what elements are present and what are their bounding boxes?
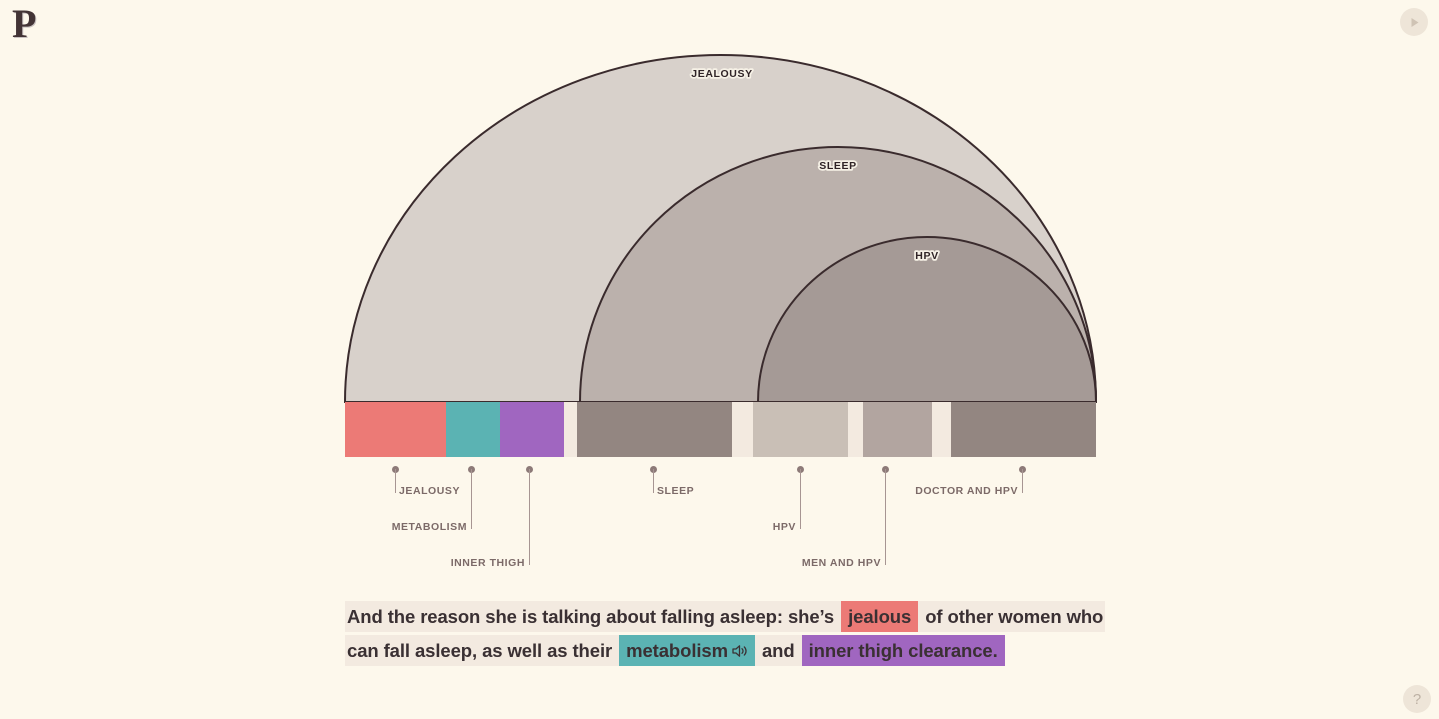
leader-label: JEALOUSY xyxy=(399,485,460,497)
leader-label: MEN AND HPV xyxy=(802,557,881,569)
arc-label-jealousy: JEALOUSY xyxy=(691,68,752,80)
leader-label: SLEEP xyxy=(657,485,694,497)
bar-segment-men-and-hpv[interactable] xyxy=(863,402,932,457)
visualization-canvas: P ? JEALOUSYSLEEPHPV JEALOUSYMETABOLISMI… xyxy=(0,0,1439,719)
transcript-caption: And the reason she is talking about fall… xyxy=(345,600,1105,669)
question-mark-icon: ? xyxy=(1413,691,1421,708)
topic-segment-bar xyxy=(345,402,1096,457)
arc-label-hpv: HPV xyxy=(915,250,938,262)
bar-segment-sleep[interactable] xyxy=(577,402,732,457)
bar-segment-hpv[interactable] xyxy=(753,402,848,457)
leader-label: DOCTOR AND HPV xyxy=(915,485,1018,497)
help-button[interactable]: ? xyxy=(1403,685,1431,713)
bar-segment-doctor-and-hpv[interactable] xyxy=(951,402,1096,457)
leader-stem xyxy=(653,469,654,493)
leader-label: INNER THIGH xyxy=(451,557,525,569)
leader-stem xyxy=(1022,469,1023,493)
speaker-icon[interactable] xyxy=(732,635,748,669)
bar-segment-metabolism[interactable] xyxy=(446,402,500,457)
caption-text: And the reason she is talking about fall… xyxy=(345,601,841,632)
nested-arcs-chart: JEALOUSYSLEEPHPV xyxy=(0,0,1439,470)
bar-segment-jealousy[interactable] xyxy=(345,402,446,457)
leader-label: METABOLISM xyxy=(392,521,467,533)
caption-highlight[interactable]: inner thigh clearance. xyxy=(802,635,1005,666)
leader-label: HPV xyxy=(773,521,796,533)
leader-stem xyxy=(800,469,801,529)
leader-stem xyxy=(471,469,472,529)
arc-label-sleep: SLEEP xyxy=(819,160,856,172)
leader-stem xyxy=(885,469,886,565)
bar-segment-inner-thigh[interactable] xyxy=(500,402,564,457)
leader-stem xyxy=(529,469,530,565)
leader-stem xyxy=(395,469,396,493)
caption-text: and xyxy=(755,635,802,666)
caption-highlight[interactable]: metabolism xyxy=(619,635,755,666)
caption-highlight[interactable]: jealous xyxy=(841,601,918,632)
